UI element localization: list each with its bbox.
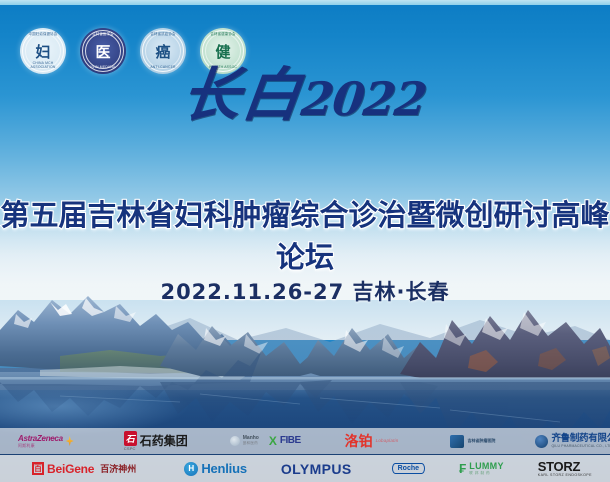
sponsor-qilu-sub: QILU PHARMACEUTICAL CO., LTD.	[551, 445, 610, 448]
sponsor-astrazeneca-sub: 阿斯利康	[18, 444, 63, 448]
org-logo-2-top-text: 吉林省医学会	[80, 33, 126, 36]
sponsor-roche: Roche	[392, 455, 425, 482]
sponsor-beigene-cn: 百济神州	[100, 462, 136, 475]
beigene-mark-icon: 百	[32, 462, 44, 475]
sponsor-astrazeneca-name: AstraZeneca	[18, 435, 63, 443]
sponsor-bar-row-2: 百 BeiGene 百济神州 H Henlius OLYMPUS Roche ₣…	[0, 455, 610, 482]
org-logo-4-core: 健	[215, 41, 230, 62]
sponsor-lummy-name: LUMMY	[469, 462, 504, 471]
sponsor-roche-name: Roche	[392, 463, 425, 474]
hospital-emblem-icon	[450, 435, 464, 448]
org-logo-2-core: 医	[95, 41, 110, 62]
sponsor-cspc: 石 CSPC 石药集团	[124, 428, 188, 454]
sponsor-qilu-name: 齐鲁制药有限公司	[551, 434, 610, 444]
sponsor-manho-text: Manho 曼和医药	[243, 436, 259, 446]
sponsor-beigene-name: BeiGene	[47, 463, 94, 475]
sponsor-karl-storz: STORZ KARL STORZ ENDOSKOPE	[538, 455, 592, 482]
org-logo-1-core: 妇	[35, 41, 50, 62]
sponsor-lummy-sub: 联邦制药	[469, 472, 504, 476]
sponsor-hospital-name: 吉林省肿瘤医院	[467, 439, 495, 443]
sponsor-fibe-name: FIBE	[280, 436, 301, 446]
sponsor-storz-name: STORZ	[538, 460, 592, 473]
sponsor-astrazeneca: AstraZeneca 阿斯利康	[18, 428, 74, 454]
date-location-line: 2022.11.26-27 吉林·长春	[0, 276, 610, 306]
org-logo-3-top-text: 吉林省抗癌协会	[140, 33, 186, 36]
sponsor-qilu-text: 齐鲁制药有限公司 QILU PHARMACEUTICAL CO., LTD.	[551, 434, 610, 448]
sponsor-beigene: 百 BeiGene 百济神州	[32, 455, 136, 482]
org-logo-3-core: 癌	[155, 41, 170, 62]
sponsor-fibe: X FIBE	[269, 428, 301, 454]
calligraphy-text: 长白	[178, 61, 306, 129]
sponsor-jilin-cancer-hospital: 吉林省肿瘤医院	[450, 428, 495, 454]
main-title-text: 第五届吉林省妇科肿瘤综合诊治暨微创研讨高峰论坛	[0, 198, 609, 274]
calligraphy-title: 长白2022	[0, 48, 610, 132]
conference-poster: 中国妇幼保健协会 妇 CHINA MCH ASSOCIATION 吉林省医学会 …	[0, 0, 610, 482]
sponsor-manho: Manho 曼和医药	[230, 428, 259, 454]
page-title: 第五届吉林省妇科肿瘤综合诊治暨微创研讨高峰论坛	[0, 192, 610, 276]
sponsor-olympus-name: OLYMPUS	[281, 462, 352, 476]
sponsor-henlius-name: Henlius	[201, 462, 247, 475]
sponsor-lummy-text: LUMMY 联邦制药	[469, 462, 504, 476]
lummy-mark-icon: ₣	[459, 462, 466, 475]
sponsor-cspc-name: 石药集团	[140, 435, 188, 447]
sponsor-cspc-mark-stack: 石 CSPC	[124, 431, 137, 451]
org-logo-1-top-text: 中国妇幼保健协会	[20, 33, 66, 36]
qilu-mark-icon	[535, 435, 548, 448]
sponsor-qilu-pharmaceutical: 齐鲁制药有限公司 QILU PHARMACEUTICAL CO., LTD.	[535, 428, 610, 454]
sponsor-storz-text: STORZ KARL STORZ ENDOSKOPE	[538, 460, 592, 478]
fibe-mark-icon: X	[269, 435, 277, 447]
sponsor-lobaplatin-name: 洛铂	[345, 434, 373, 448]
manho-mark-icon	[230, 436, 240, 446]
sky-top-edge	[0, 0, 610, 5]
sponsor-henlius: H Henlius	[184, 455, 247, 482]
starburst-icon	[66, 436, 74, 446]
sponsor-storz-sub: KARL STORZ ENDOSKOPE	[538, 474, 592, 478]
cspc-badge-icon: 石	[124, 431, 137, 446]
calligraphy-year: 2022	[299, 72, 430, 126]
sponsor-manho-sub: 曼和医药	[243, 442, 259, 446]
sponsor-astrazeneca-text: AstraZeneca 阿斯利康	[18, 435, 63, 448]
org-logo-4-top-text: 吉林省健康协会	[200, 33, 246, 36]
sponsor-olympus: OLYMPUS	[281, 455, 352, 482]
sponsor-cspc-sub: CSPC	[124, 447, 137, 451]
henlius-mark-icon: H	[184, 462, 198, 476]
sponsor-bar-row-1: AstraZeneca 阿斯利康 石 CSPC 石药集团 Manho 曼和医药 …	[0, 428, 610, 454]
sponsor-lobaplatin: 洛铂 Lobaplatin	[345, 428, 399, 454]
sponsor-lobaplatin-sub: Lobaplatin	[376, 439, 399, 444]
sponsor-lummy: ₣ LUMMY 联邦制药	[459, 455, 504, 482]
